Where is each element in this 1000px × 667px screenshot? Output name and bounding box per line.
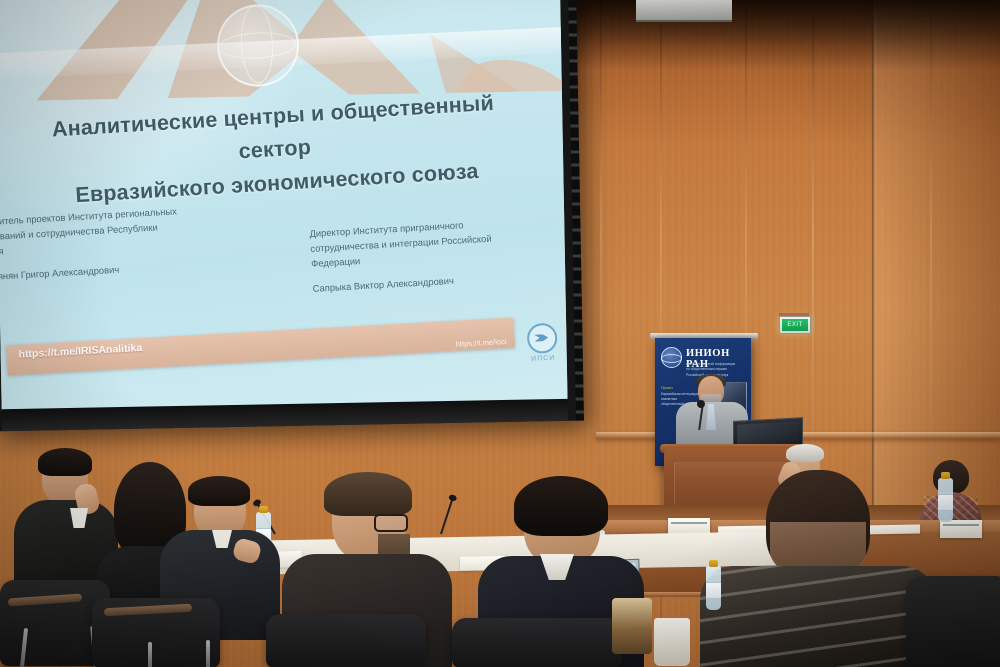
presentation-slide: Аналитические центры и общественный сект…: [0, 0, 568, 411]
exit-sign-label: EXIT: [782, 319, 808, 331]
chair-leg: [206, 640, 210, 667]
attendee-8: [700, 470, 936, 667]
lectern-microphone-head: [697, 400, 705, 408]
water-bottle: [706, 566, 721, 610]
byline-left-name: Аванесянян Григор Александрович: [0, 254, 256, 286]
byline-right-name: Сапрыка Виктор Александрович: [312, 268, 542, 296]
exit-sign: EXIT: [779, 316, 811, 334]
water-bottle: [938, 478, 953, 522]
slide-byline-left: Руководитель проектов Института регионал…: [0, 199, 256, 285]
slide-url-bar: https://t.me/IRISAnalitika https://t.me/…: [6, 318, 515, 376]
conference-room-photo: EXIT Аналитические центры и общественный…: [0, 0, 1000, 667]
screen-surface: Аналитические центры и общественный сект…: [0, 0, 568, 411]
bottle-cap: [709, 560, 718, 567]
ceiling-vent: [636, 0, 732, 22]
bottle-label: [706, 582, 721, 599]
byline-right-role-3: Федерации: [311, 256, 361, 270]
nameplate: [940, 520, 982, 538]
globe-emblem-icon: [661, 347, 682, 368]
bottle-cap: [941, 472, 950, 479]
banner-subtitle-2: по общественным наукам: [686, 367, 727, 371]
chair: [266, 614, 426, 667]
chevron-globe-icon: [526, 323, 558, 355]
bottle-label: [938, 494, 953, 511]
telegram-url-left: https://t.me/IRISAnalitika: [18, 342, 142, 361]
ceiling-shadow: [560, 0, 1000, 70]
slide-logo: ИПСИ: [519, 322, 565, 368]
projection-screen: Аналитические центры и общественный сект…: [0, 0, 584, 431]
glasses-icon: [374, 514, 408, 532]
attendee-3-hair: [188, 476, 250, 506]
telegram-url-right: https://t.me/ioci: [455, 337, 506, 349]
attendee-1-hair: [38, 448, 92, 476]
attendee-4-hair: [324, 472, 412, 516]
attendee-8-sweater-stripes: [700, 566, 936, 667]
attendee-5-hair: [514, 476, 608, 536]
slide-logo-caption: ИПСИ: [521, 354, 565, 363]
chair: [906, 576, 1000, 667]
chair-leg: [148, 642, 152, 667]
nameplate-text: [943, 524, 979, 527]
byline-left-role-3: Армения: [0, 246, 4, 259]
attendee-6-hair: [786, 444, 824, 462]
glass-jar: [612, 598, 652, 654]
banner-subtitle-1: Институт научной информации: [686, 362, 735, 366]
slide-byline-right: Директор Института приграничного сотрудн…: [309, 213, 543, 296]
chair: [452, 618, 622, 667]
paper-cup: [654, 618, 690, 666]
